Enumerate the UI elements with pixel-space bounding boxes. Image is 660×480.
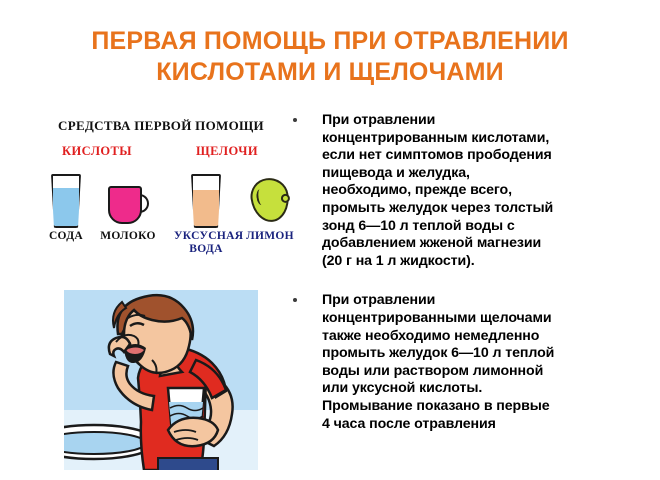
glass-liquid <box>193 190 219 226</box>
text-line: При отравлении <box>322 292 656 310</box>
list-item-text: При отравлении концентрированными щелоча… <box>322 292 656 433</box>
glass-icon <box>191 174 221 228</box>
content-list: При отравлении концентрированным кислота… <box>288 112 656 455</box>
bullet-icon <box>293 298 297 302</box>
list-item-text: При отравлении концентрированным кислота… <box>322 112 656 270</box>
remedy-label-vinegar-water-line-2: ВОДА <box>189 243 222 255</box>
text-line: или уксусной кислоты. <box>322 380 656 398</box>
remedy-label-milk: МОЛОКО <box>96 230 160 243</box>
soda-art <box>34 166 98 228</box>
text-line: необходимо, прежде всего, <box>322 182 656 200</box>
text-line: воды или раствором лимонной <box>322 363 656 381</box>
text-line: пищевода и желудка, <box>322 165 656 183</box>
list-item: При отравлении концентрированными щелоча… <box>288 292 656 433</box>
cup-body <box>108 186 142 224</box>
text-line: 4 часа после отравления <box>322 416 656 434</box>
remedies-panel: СРЕДСТВА ПЕРВОЙ ПОМОЩИ КИСЛОТЫ ЩЕЛОЧИ СО… <box>30 118 292 278</box>
text-line: также необходимо немедленно <box>322 328 656 346</box>
group-label-alkalis: ЩЕЛОЧИ <box>182 144 272 159</box>
page-title-line-1: ПЕРВАЯ ПОМОЩЬ ПРИ ОТРАВЛЕНИИ <box>0 26 660 57</box>
remedy-item-soda: СОДА <box>34 166 98 243</box>
cup-icon <box>108 186 148 226</box>
remedies-heading: СРЕДСТВА ПЕРВОЙ ПОМОЩИ <box>30 118 292 134</box>
text-line: если нет симптомов прободения <box>322 147 656 165</box>
text-line: зонд 6—10 л теплой воды с <box>322 218 656 236</box>
glass-liquid <box>53 188 79 226</box>
text-line: концентрированными щелочами <box>322 310 656 328</box>
milk-art <box>96 166 160 228</box>
list-item: При отравлении концентрированным кислота… <box>288 112 656 270</box>
remedy-label-soda: СОДА <box>34 230 98 243</box>
group-label-acids: КИСЛОТЫ <box>52 144 142 159</box>
remedy-item-milk: МОЛОКО <box>96 166 160 243</box>
text-line: промыть желудок через толстый <box>322 200 656 218</box>
page-title-line-2: КИСЛОТАМИ И ЩЕЛОЧАМИ <box>0 57 660 88</box>
page-title: ПЕРВАЯ ПОМОЩЬ ПРИ ОТРАВЛЕНИИ КИСЛОТАМИ И… <box>0 26 660 88</box>
lemon-icon <box>248 176 292 225</box>
vinegar-water-art <box>174 166 238 228</box>
text-line: (20 г на 1 л жидкости). <box>322 253 656 271</box>
remedy-label-vinegar-water: УКСУСНАЯ ВОДА <box>174 230 238 256</box>
text-line: добавлением жженой магнезии <box>322 235 656 253</box>
text-line: Промывание показано в первые <box>322 398 656 416</box>
glass-icon <box>51 174 81 228</box>
remedy-label-vinegar-water-line-1: УКСУСНАЯ <box>174 230 243 242</box>
text-line: При отравлении <box>322 112 656 130</box>
text-line: промыть желудок 6—10 л теплой <box>322 345 656 363</box>
person-illustration <box>64 290 258 470</box>
text-line: концентрированным кислотами, <box>322 130 656 148</box>
bullet-icon <box>293 118 297 122</box>
remedy-item-vinegar-water: УКСУСНАЯ ВОДА <box>174 166 238 256</box>
